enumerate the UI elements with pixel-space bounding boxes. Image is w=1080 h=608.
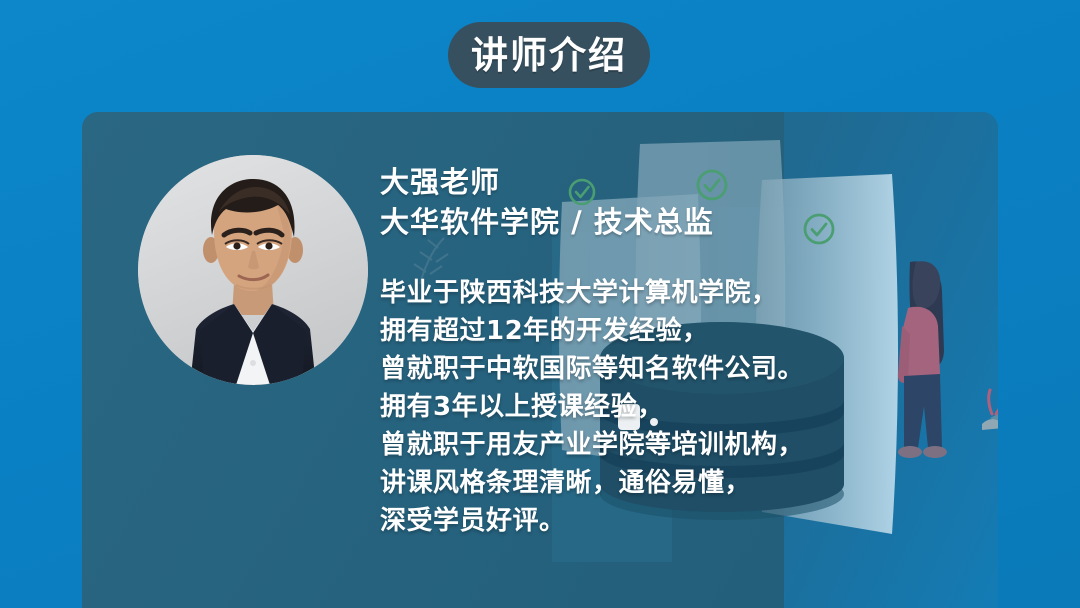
bio-line: 毕业于陕西科技大学计算机学院， [380,274,980,312]
bio-line: 曾就职于用友产业学院等培训机构， [380,426,980,464]
bio-line: 拥有3年以上授课经验， [380,388,980,426]
avatar-image [138,155,368,385]
slide-canvas: 讲师介绍 [0,0,1080,608]
page-title: 讲师介绍 [471,37,627,74]
bio-line: 曾就职于中软国际等知名软件公司。 [380,350,980,388]
section-title-badge: 讲师介绍 [448,22,650,88]
speaker-avatar [138,155,368,385]
bio-line: 深受学员好评。 [380,502,980,540]
speaker-card: 大强老师 大华软件学院 / 技术总监 毕业于陕西科技大学计算机学院， 拥有超过1… [82,112,998,608]
speaker-affiliation: 大华软件学院 / 技术总监 [380,202,980,242]
speaker-name: 大强老师 [380,162,980,202]
speaker-info: 大强老师 大华软件学院 / 技术总监 毕业于陕西科技大学计算机学院， 拥有超过1… [380,162,980,540]
speaker-bio: 毕业于陕西科技大学计算机学院， 拥有超过12年的开发经验， 曾就职于中软国际等知… [380,274,980,540]
bio-line: 讲课风格条理清晰，通俗易懂， [380,464,980,502]
bio-line: 拥有超过12年的开发经验， [380,312,980,350]
